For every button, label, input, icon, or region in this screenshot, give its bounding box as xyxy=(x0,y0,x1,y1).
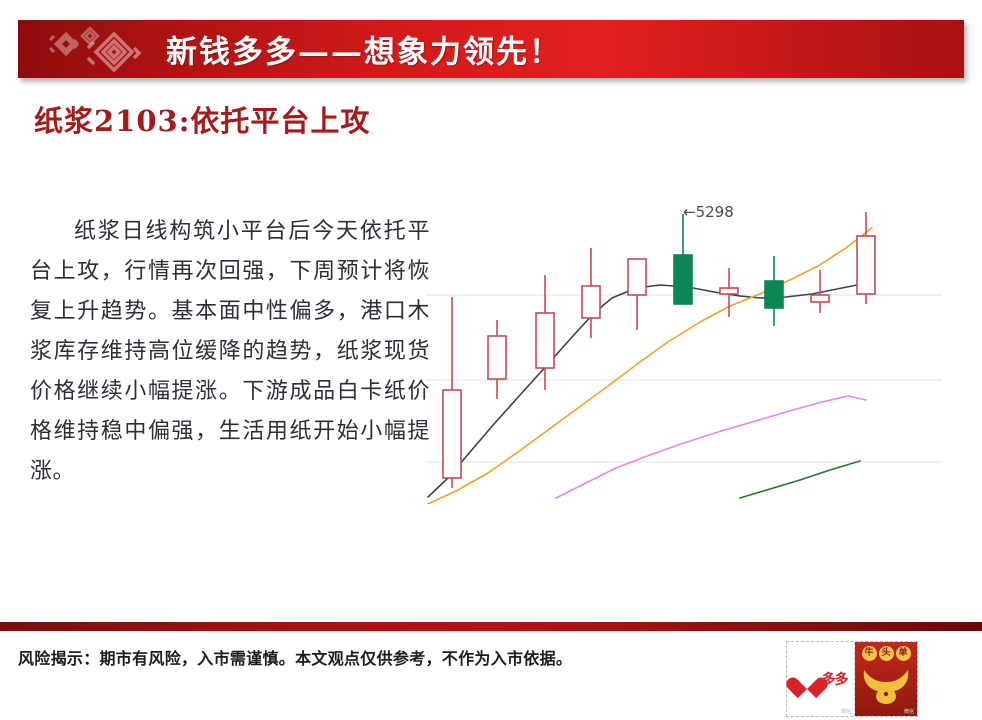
header-title: 新钱多多——想象力领先！ xyxy=(166,27,562,72)
body-paragraph: 纸浆日线构筑小平台后今天依托平台上攻，行情再次回强，下周预计将恢复上升趋势。基本… xyxy=(30,212,430,492)
header-banner: 新钱多多——想象力领先！ xyxy=(18,20,964,78)
logo-chip: 牛 xyxy=(862,646,877,661)
candlestick-chart: ←5298 xyxy=(424,186,944,504)
logo-chip-row: 牛 头 单 xyxy=(855,646,917,661)
logo-chip: 头 xyxy=(879,646,894,661)
chinese-knot-icon xyxy=(38,22,146,76)
candle-series xyxy=(443,212,875,488)
page-title: 纸浆2103:依托平台上攻 xyxy=(34,98,434,144)
presentation-slide: 新钱多多——想象力领先！ 纸浆2103:依托平台上攻 纸浆日线构筑小平台后今天依… xyxy=(0,0,982,720)
heart-icon: 钱 xyxy=(794,666,820,692)
price-annotation: ←5298 xyxy=(683,203,734,221)
heart-char: 钱 xyxy=(794,673,820,685)
footer-divider xyxy=(0,622,982,631)
brand-logo: 钱 多多 微信 牛 头 单 微信 xyxy=(786,641,918,717)
bull-head-icon xyxy=(860,666,912,706)
logo-niutoudan: 牛 头 单 微信 xyxy=(855,642,917,716)
logo-corner-mark-right: 微信 xyxy=(904,708,914,715)
logo-qianduoduo: 钱 多多 微信 xyxy=(787,642,855,716)
risk-disclaimer: 风险揭示：期市有风险，入市需谨慎。本文观点仅供参考，不作为入市依据。 xyxy=(18,645,572,669)
logo-chip: 单 xyxy=(896,646,911,661)
logo-corner-mark-left: 微信 xyxy=(841,708,851,715)
chart-canvas xyxy=(424,186,944,504)
